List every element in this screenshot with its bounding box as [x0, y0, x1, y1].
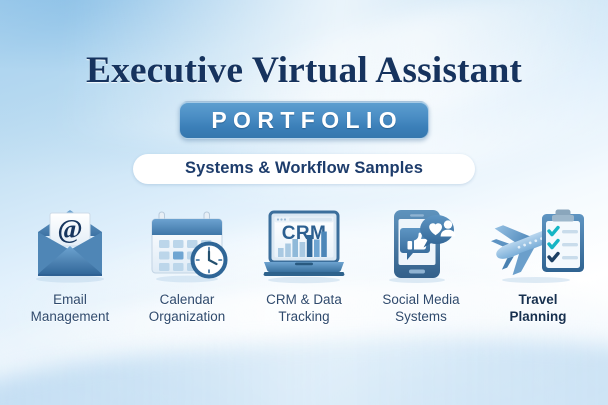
service-caption-line1: Email	[31, 292, 110, 309]
page-title: Executive Virtual Assistant	[0, 0, 608, 90]
laptop-bar-chart-icon: CRM	[252, 206, 356, 284]
portfolio-badge: PORTFOLIO	[179, 101, 429, 139]
service-caption: Email Management	[31, 292, 110, 325]
poster-header: Executive Virtual Assistant PORTFOLIO Sy…	[0, 0, 608, 184]
poster-canvas: Executive Virtual Assistant PORTFOLIO Sy…	[0, 0, 608, 405]
service-caption-line2: Organization	[149, 309, 226, 326]
open-envelope-at-icon: @	[18, 206, 122, 284]
service-caption: CRM & Data Tracking	[266, 292, 342, 325]
service-caption-line1: CRM & Data	[266, 292, 342, 309]
service-item-crm-data-tracking[interactable]: CRM CRM & Data	[248, 206, 360, 325]
calendar-clock-icon	[135, 206, 239, 284]
service-caption-line1: Social Media	[382, 292, 459, 309]
service-caption: Travel Planning	[510, 292, 567, 325]
service-caption: Social Media Systems	[382, 292, 459, 325]
service-caption-line2: Systems	[382, 309, 459, 326]
badge-container: PORTFOLIO	[0, 101, 608, 139]
service-item-email-management[interactable]: @ Email Management	[14, 206, 126, 325]
subtitle-pill: Systems & Workflow Samples	[133, 154, 475, 184]
service-caption-line2: Tracking	[266, 309, 342, 326]
service-caption-line1: Travel	[510, 292, 567, 309]
service-item-social-media-systems[interactable]: Social Media Systems	[365, 206, 477, 325]
service-caption-line1: Calendar	[149, 292, 226, 309]
airplane-clipboard-checklist-icon	[486, 206, 590, 284]
service-caption-line2: Planning	[510, 309, 567, 326]
smartphone-social-bubbles-icon	[369, 206, 473, 284]
service-caption: Calendar Organization	[149, 292, 226, 325]
services-row: @ Email Management	[0, 206, 608, 336]
service-caption-line2: Management	[31, 309, 110, 326]
service-item-calendar-organization[interactable]: Calendar Organization	[131, 206, 243, 325]
subtitle-container: Systems & Workflow Samples	[0, 154, 608, 184]
svg-text:@: @	[57, 214, 82, 244]
service-item-travel-planning[interactable]: Travel Planning	[482, 206, 594, 325]
